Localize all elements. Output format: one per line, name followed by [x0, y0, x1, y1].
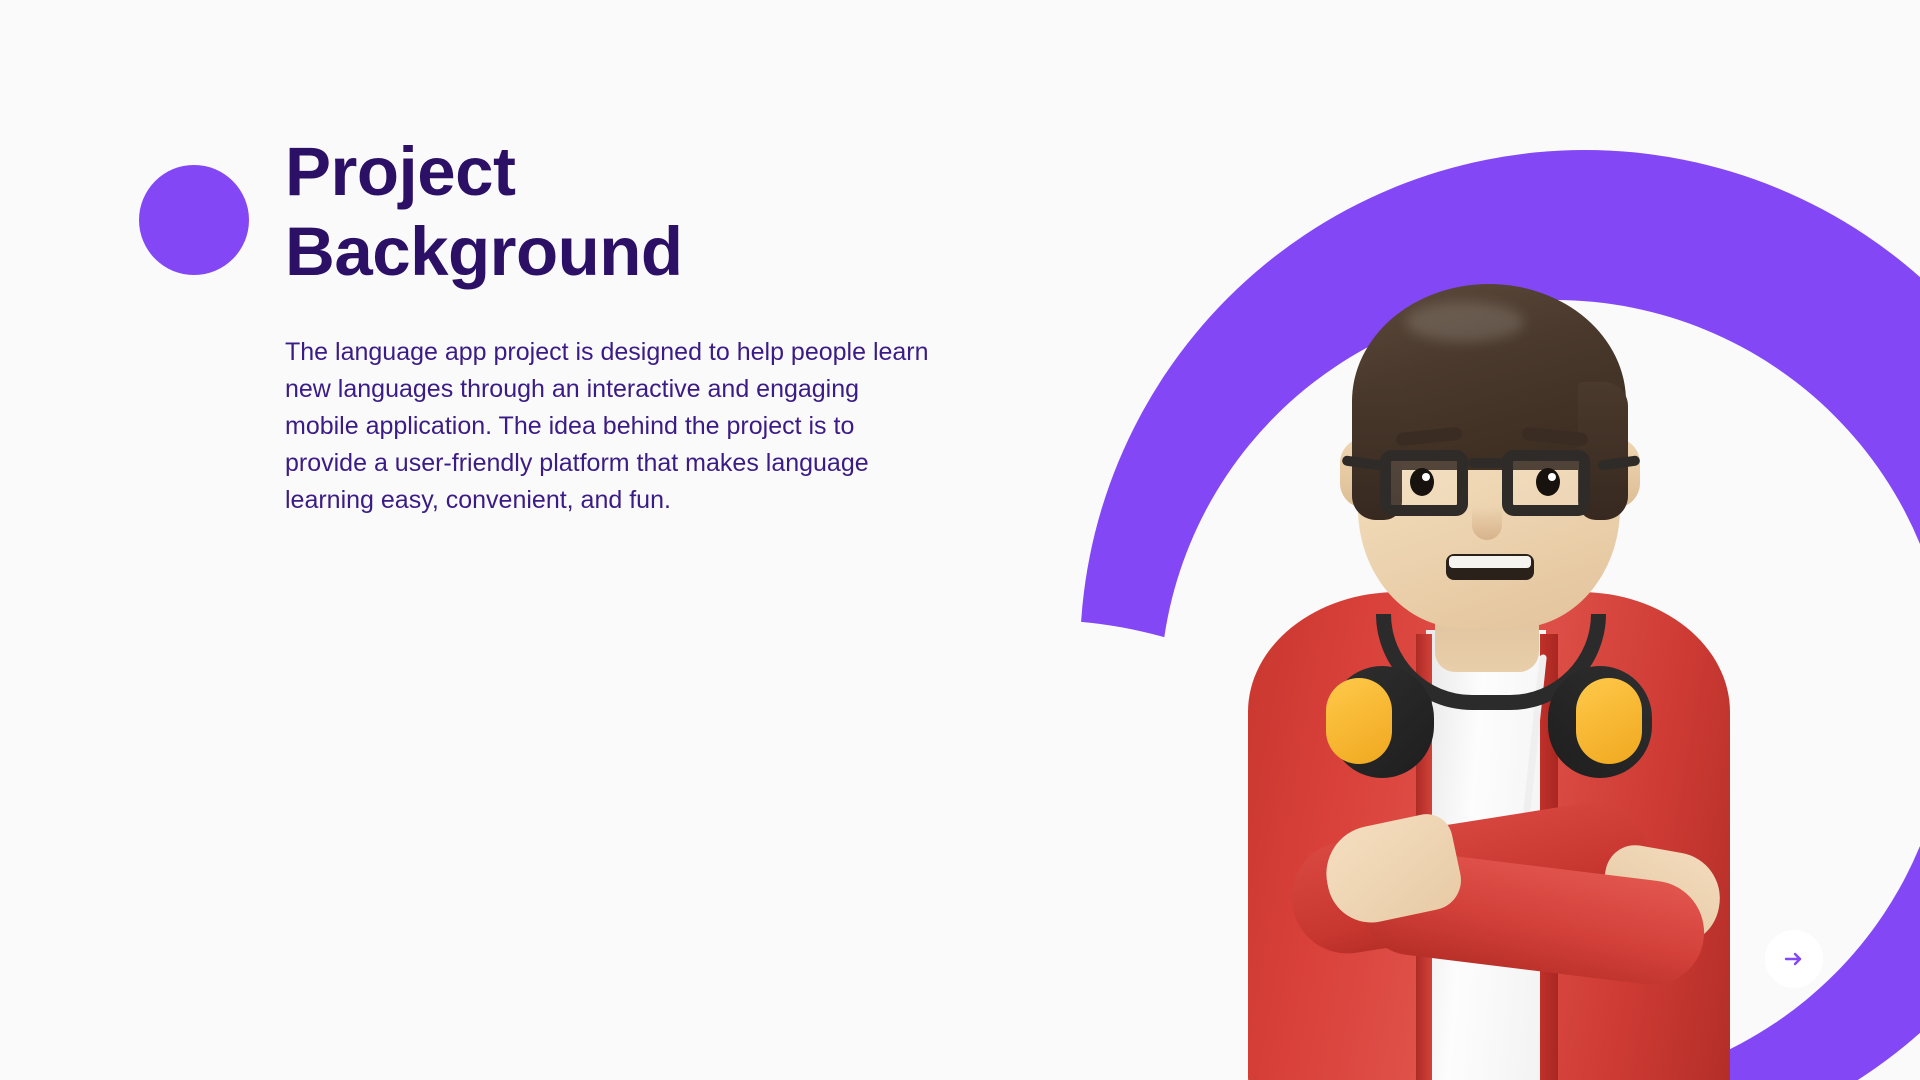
text-column: Project Background The language app proj…: [285, 132, 945, 519]
character-eye-right: [1536, 468, 1560, 496]
hair-highlight: [1406, 302, 1524, 342]
next-slide-button[interactable]: [1765, 930, 1823, 988]
headphone-pad-right: [1576, 678, 1642, 764]
hero-artwork: [1020, 0, 1920, 1080]
3d-character-illustration: [1230, 262, 1750, 1080]
headphone-pad-left: [1326, 678, 1392, 764]
glasses-bridge: [1468, 458, 1504, 468]
character-mouth: [1446, 554, 1534, 580]
purple-dot-icon: [139, 165, 249, 275]
character-nose: [1472, 506, 1502, 540]
slide-canvas: Project Background The language app proj…: [0, 0, 1920, 1080]
character-eye-left: [1410, 468, 1434, 496]
body-paragraph: The language app project is designed to …: [285, 334, 930, 519]
arrow-right-icon: [1782, 947, 1806, 971]
character-teeth: [1449, 556, 1531, 568]
page-title: Project Background: [285, 132, 945, 292]
